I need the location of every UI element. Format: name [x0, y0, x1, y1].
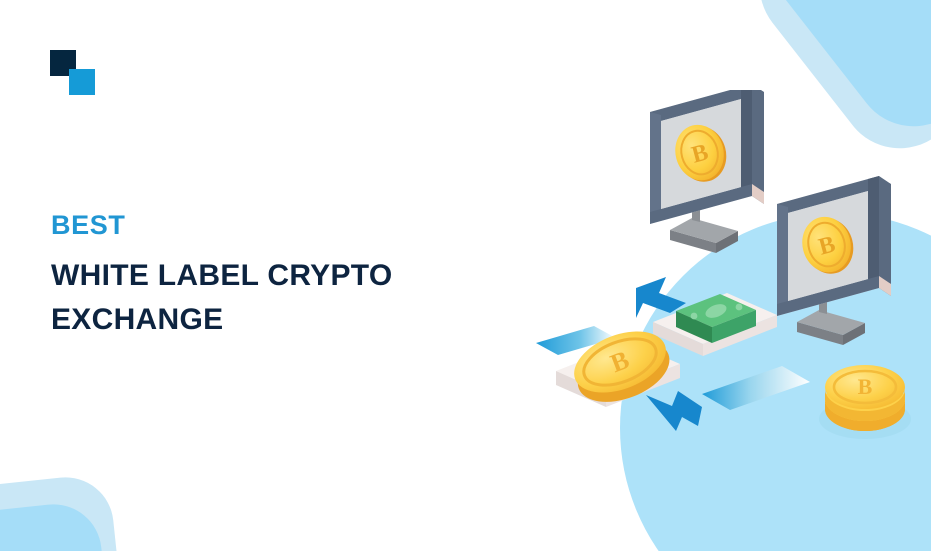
blob-bottom-left-front	[0, 500, 122, 551]
arrow-down-right-icon	[646, 391, 702, 431]
ribbon-right	[702, 366, 810, 410]
blob-bottom-left-back	[0, 473, 134, 551]
headline-line-2: EXCHANGE	[51, 298, 471, 342]
brand-logo[interactable]	[50, 50, 94, 94]
headline-line-1: WHITE LABEL CRYPTO	[51, 254, 471, 298]
crypto-exchange-illustration: B	[520, 90, 931, 470]
monitor-front: B	[777, 176, 891, 345]
banner-root: BEST WHITE LABEL CRYPTO EXCHANGE	[0, 0, 931, 551]
monitor-back: B	[650, 90, 764, 253]
logo-square-blue-icon	[69, 69, 95, 95]
bitcoin-coin-stack: B	[819, 365, 911, 439]
headline-eyebrow: BEST	[51, 212, 471, 239]
headline-block: BEST WHITE LABEL CRYPTO EXCHANGE	[51, 212, 471, 341]
svg-text:B: B	[858, 374, 873, 399]
